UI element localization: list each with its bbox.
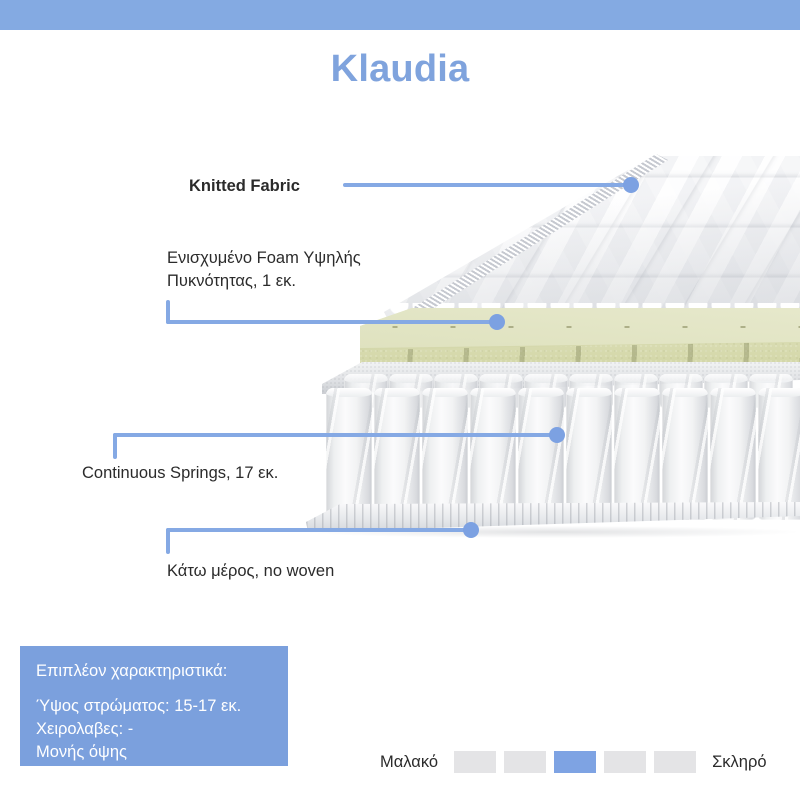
firmness-soft-label: Μαλακό: [380, 753, 438, 772]
firmness-segment-1[interactable]: [454, 751, 496, 773]
spring-cap: [422, 388, 468, 397]
spring-cap: [566, 388, 612, 397]
spring-row-front: [326, 388, 800, 520]
spring-cap: [749, 374, 793, 383]
spring-cap: [659, 374, 703, 383]
spring-coil: [758, 388, 800, 520]
firmness-segment-2[interactable]: [504, 751, 546, 773]
spring-cap: [569, 374, 613, 383]
callout-label-high-density-foam: Ενισχυμένο Foam Υψηλής Πυκνότητας, 1 εκ.: [167, 247, 361, 293]
spring-coil: [566, 388, 612, 520]
leader-dot-knitted-fabric: [623, 177, 639, 193]
firmness-segment-3[interactable]: [554, 751, 596, 773]
spring-cap: [614, 388, 660, 397]
spring-cap: [434, 374, 478, 383]
spring-cap: [662, 388, 708, 397]
spring-cap: [344, 374, 388, 383]
spring-cap: [704, 374, 748, 383]
firmness-segment-4[interactable]: [604, 751, 646, 773]
leader-line-springs: [113, 433, 561, 437]
leader-dot-foam: [489, 314, 505, 330]
firmness-scale: Μαλακό Σκληρό: [380, 748, 767, 776]
firmness-segment-5[interactable]: [654, 751, 696, 773]
additional-features-heading: Επιπλέον χαρακτηριστικά:: [36, 660, 288, 682]
leader-stem-springs: [113, 433, 117, 459]
callout-label-continuous-springs: Continuous Springs, 17 εκ.: [82, 462, 278, 485]
spring-cap: [389, 374, 433, 383]
leader-dot-bottom: [463, 522, 479, 538]
callout-label-knitted-fabric: Knitted Fabric: [189, 175, 300, 198]
leader-line-bottom: [166, 528, 476, 532]
page-title: Klaudia: [0, 48, 800, 91]
spring-coil: [662, 388, 708, 520]
firmness-hard-label: Σκληρό: [712, 753, 766, 772]
spring-coil: [470, 388, 516, 520]
spring-cap: [524, 374, 568, 383]
spring-coil: [326, 388, 372, 520]
product-diagram-page: Klaudia: [0, 0, 800, 800]
spring-cap: [614, 374, 658, 383]
callout-label-bottom-non-woven: Κάτω μέρος, no woven: [167, 560, 334, 583]
feature-handles: Χειρολαβες: -: [36, 718, 288, 741]
spring-coil: [422, 388, 468, 520]
spring-cap: [518, 388, 564, 397]
spring-cap: [479, 374, 523, 383]
spring-cap: [326, 388, 372, 397]
foam-ventilation-holes: [360, 308, 800, 348]
spring-cap: [470, 388, 516, 397]
feature-single-sided: Μονής όψης: [36, 741, 288, 764]
spring-cap: [374, 388, 420, 397]
additional-features-box: Επιπλέον χαρακτηριστικά: Ύψος στρώματος:…: [20, 646, 288, 766]
spring-coil: [710, 388, 756, 520]
spring-coil: [614, 388, 660, 520]
leader-line-foam: [166, 320, 501, 324]
spring-coil: [374, 388, 420, 520]
feature-mattress-height: Ύψος στρώματος: 15-17 εκ.: [36, 695, 288, 718]
spring-coil: [518, 388, 564, 520]
firmness-segments: [454, 751, 696, 773]
mattress-illustration: [300, 140, 800, 540]
spring-cap: [710, 388, 756, 397]
leader-dot-springs: [549, 427, 565, 443]
spring-cap: [758, 388, 800, 397]
leader-stem-bottom: [166, 528, 170, 554]
leader-line-knitted-fabric: [343, 183, 635, 187]
top-accent-band: [0, 0, 800, 30]
